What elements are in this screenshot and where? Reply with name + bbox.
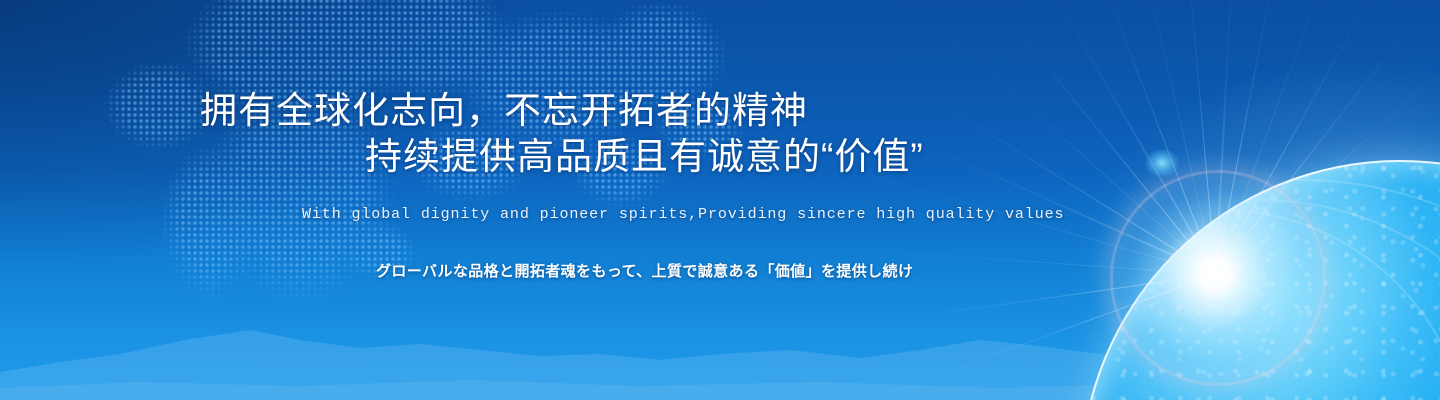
headline-line-2: 持续提供高品质且有诚意的“价值” [200,134,924,180]
headline: 拥有全球化志向，不忘开拓者的精神 持续提供高品质且有诚意的“价值” [200,88,924,180]
globe-body [1080,160,1440,400]
headline-line-1: 拥有全球化志向，不忘开拓者的精神 [200,90,808,131]
globe-rim-highlight [1080,160,1440,400]
banner-copy: 拥有全球化志向，不忘开拓者的精神 持续提供高品质且有诚意的“价值” With g… [0,0,1100,400]
globe-surface-texture [1080,160,1440,400]
subline-japanese: グローバルな品格と開拓者魂をもって、上質で誠意ある「価値」を提供し続け [376,260,913,281]
subline-english: With global dignity and pioneer spirits,… [302,206,1064,223]
globe-arc-lines [1080,160,1440,400]
hero-banner: 拥有全球化志向，不忘开拓者的精神 持续提供高品质且有诚意的“价值” With g… [0,0,1440,400]
